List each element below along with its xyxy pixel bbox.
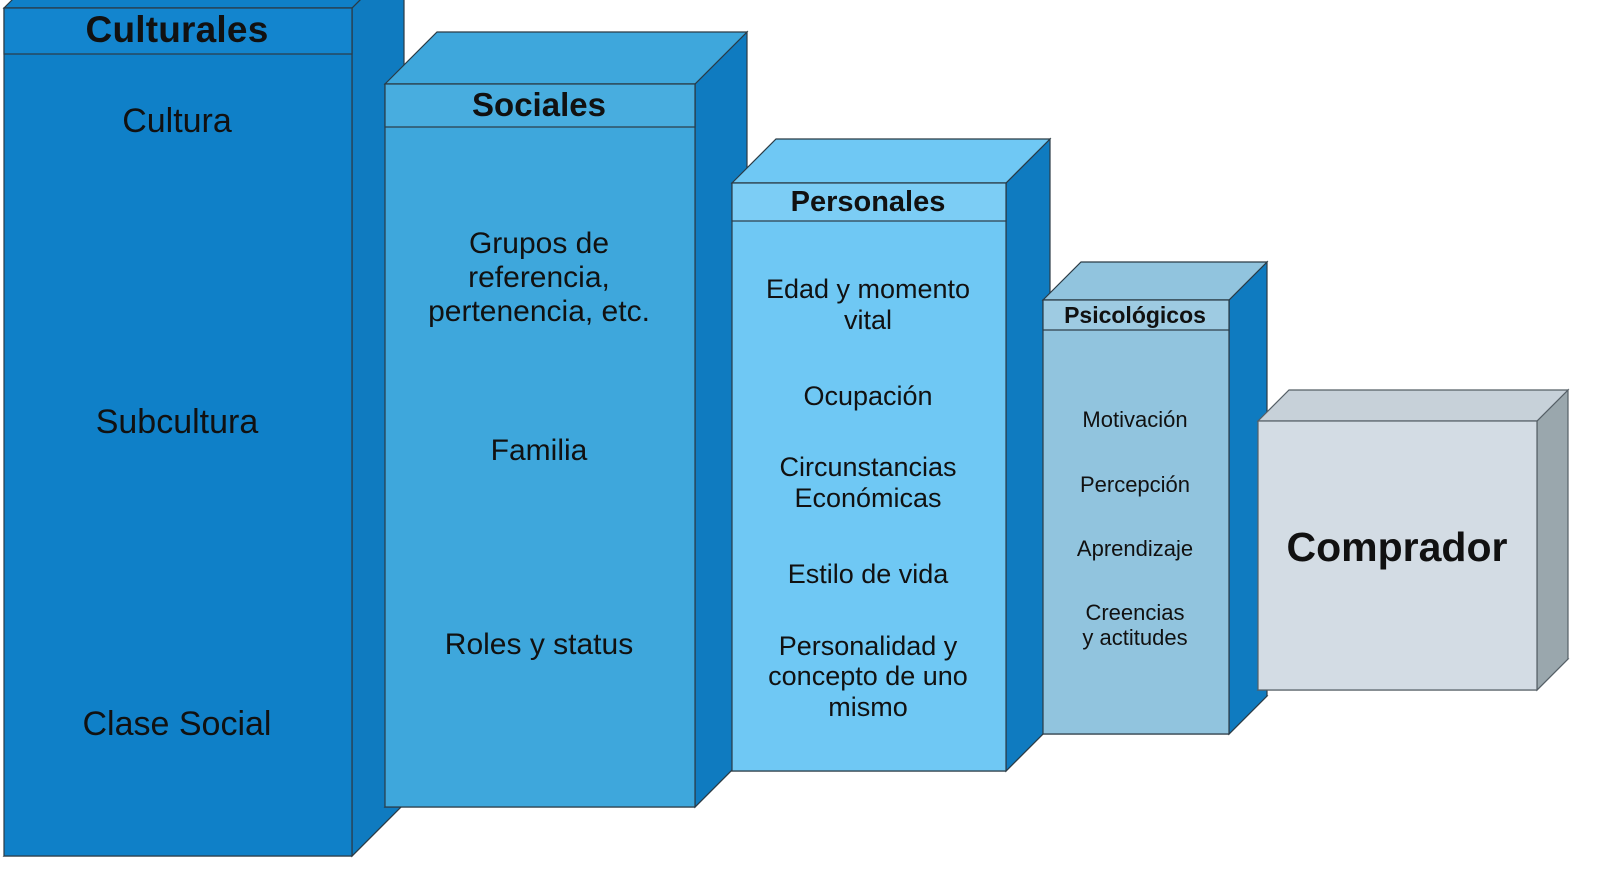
box-body-personales: Edad y momentovital Ocupación Circunstan… [732,224,1004,771]
box-item-motivacion: Motivación [1046,407,1224,432]
box-item-roles-status: Roles y status [391,628,687,662]
box-body-sociales: Grupos dereferencia,pertenencia, etc. Fa… [385,129,693,807]
box-item-grupos-referencia: Grupos dereferencia,pertenencia, etc. [391,227,687,330]
diagram-canvas: Culturales Cultura Subcultura Clase Soci… [0,0,1600,893]
box-item-circunstancias: CircunstanciasEconómicas [736,452,1000,514]
box-item-ocupacion: Ocupación [736,381,1000,412]
box-item-edad-momento-vital: Edad y momentovital [736,274,1000,336]
box-title-culturales: Culturales [4,8,350,52]
box-item-percepcion: Percepción [1046,472,1224,497]
box-item-familia: Familia [391,434,687,468]
box-title-sociales: Sociales [385,84,693,126]
box-title-personales: Personales [732,184,1004,220]
box-body-psicologicos: Motivación Percepción Aprendizaje Creenc… [1043,333,1227,734]
box-item-creencias: Creenciasy actitudes [1046,600,1224,650]
box-body-culturales: Cultura Subcultura Clase Social [4,56,350,856]
box-item-subcultura: Subcultura [10,403,344,442]
box-item-personalidad: Personalidad yconcepto de unomismo [736,631,1000,723]
box-item-clase-social: Clase Social [10,705,344,744]
box-title-comprador: Comprador [1258,522,1536,572]
box-title-psicologicos: Psicológicos [1043,301,1227,329]
box-item-cultura: Cultura [10,102,344,141]
labels-layer: Culturales Cultura Subcultura Clase Soci… [0,0,1600,893]
box-item-estilo-de-vida: Estilo de vida [736,559,1000,590]
box-item-aprendizaje: Aprendizaje [1046,536,1224,561]
